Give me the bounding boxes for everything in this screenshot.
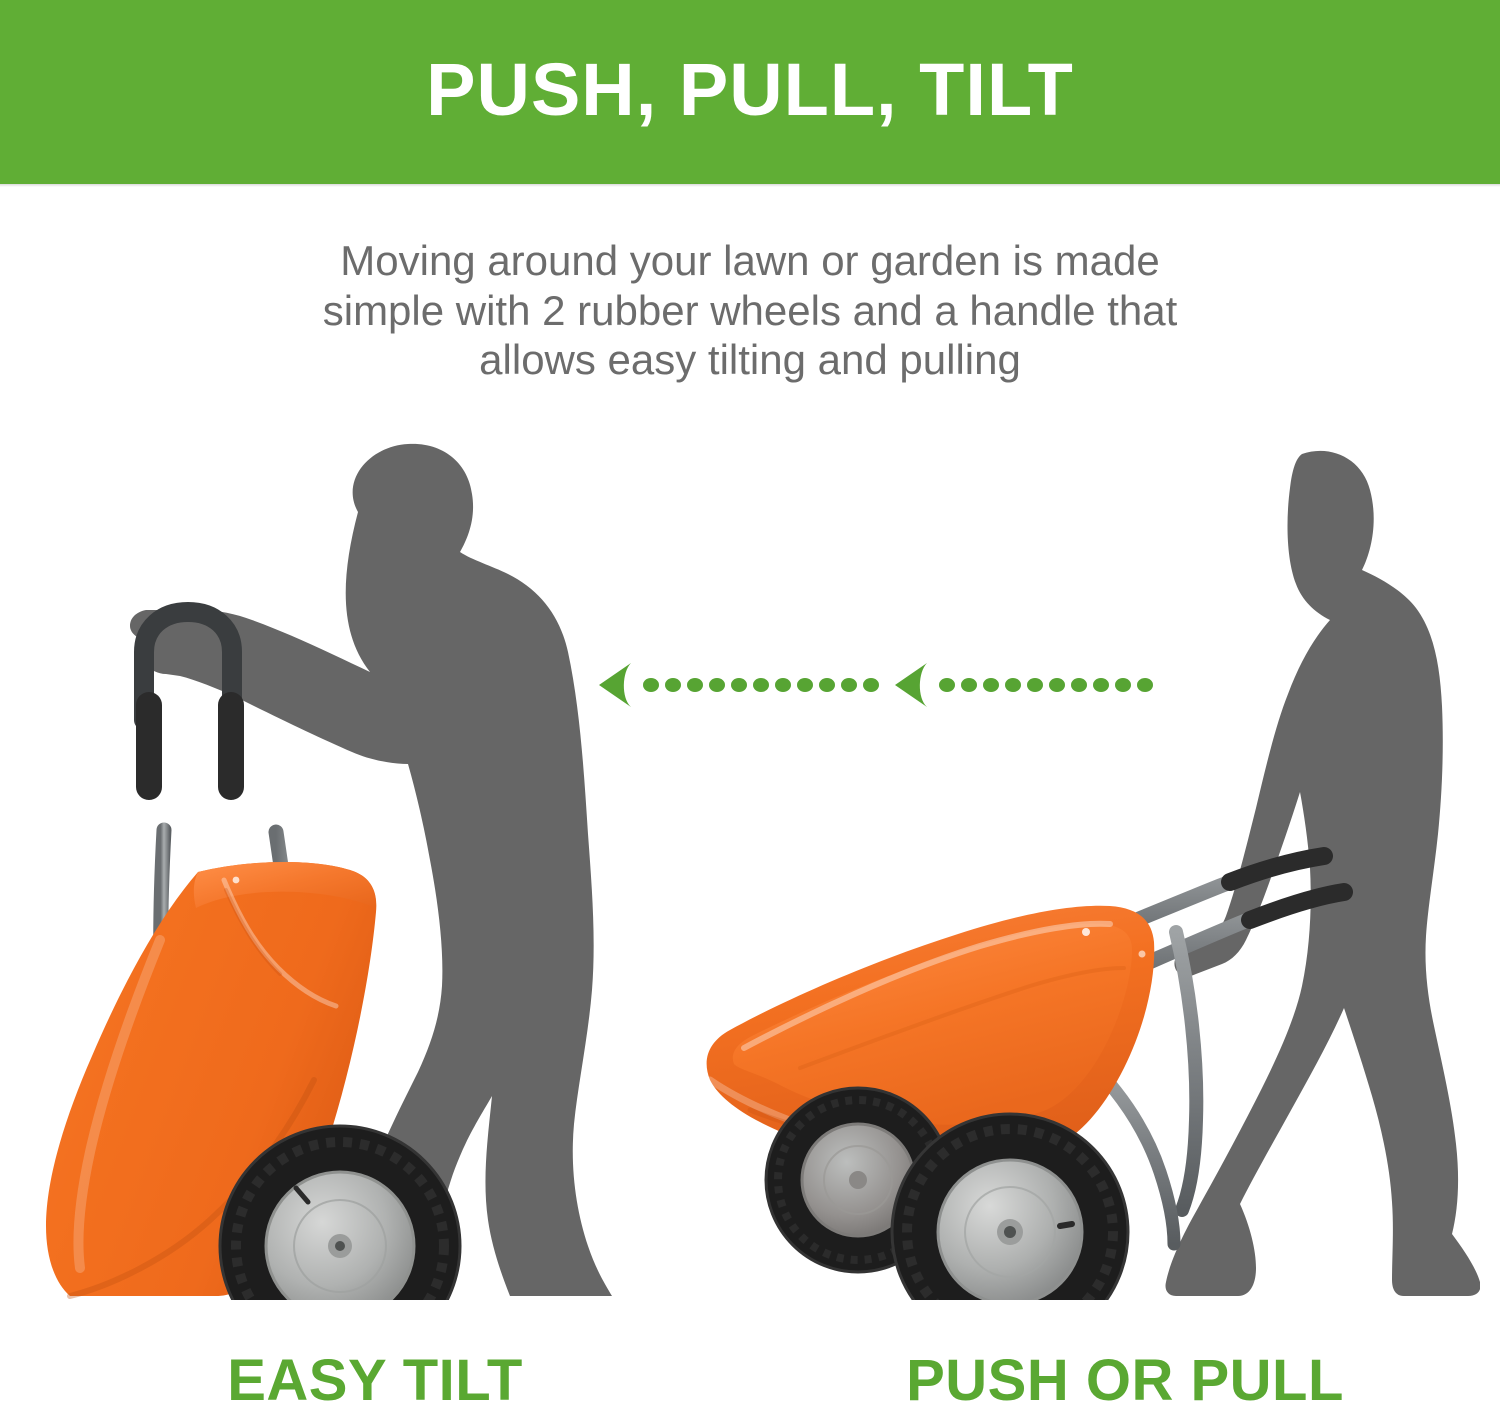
description-line-2: simple with 2 rubber wheels and a handle…: [250, 286, 1250, 336]
caption-easy-tilt: EASY TILT: [0, 1352, 750, 1410]
easy-tilt-scene: [40, 420, 660, 1300]
description-line-3: allows easy tilting and pulling: [250, 335, 1250, 385]
header-banner: PUSH, PULL, TILT: [0, 0, 1500, 184]
arrow-head-2: [895, 663, 927, 707]
cart-foam-grips: [136, 692, 244, 800]
feature-description: Moving around your lawn or garden is mad…: [250, 236, 1250, 385]
infographic-page: PUSH, PULL, TILT Moving around your lawn…: [0, 0, 1500, 1418]
page-title: PUSH, PULL, TILT: [406, 53, 1094, 127]
silhouette-figure-walking: [1165, 451, 1480, 1296]
banner-bottom-shadow: [0, 184, 1500, 187]
push-or-pull-scene: [690, 420, 1480, 1300]
motion-direction-arrows: [595, 660, 1155, 710]
caption-push-or-pull: PUSH OR PULL: [750, 1352, 1500, 1410]
arrow-head-1: [599, 663, 631, 707]
description-line-1: Moving around your lawn or garden is mad…: [250, 236, 1250, 286]
